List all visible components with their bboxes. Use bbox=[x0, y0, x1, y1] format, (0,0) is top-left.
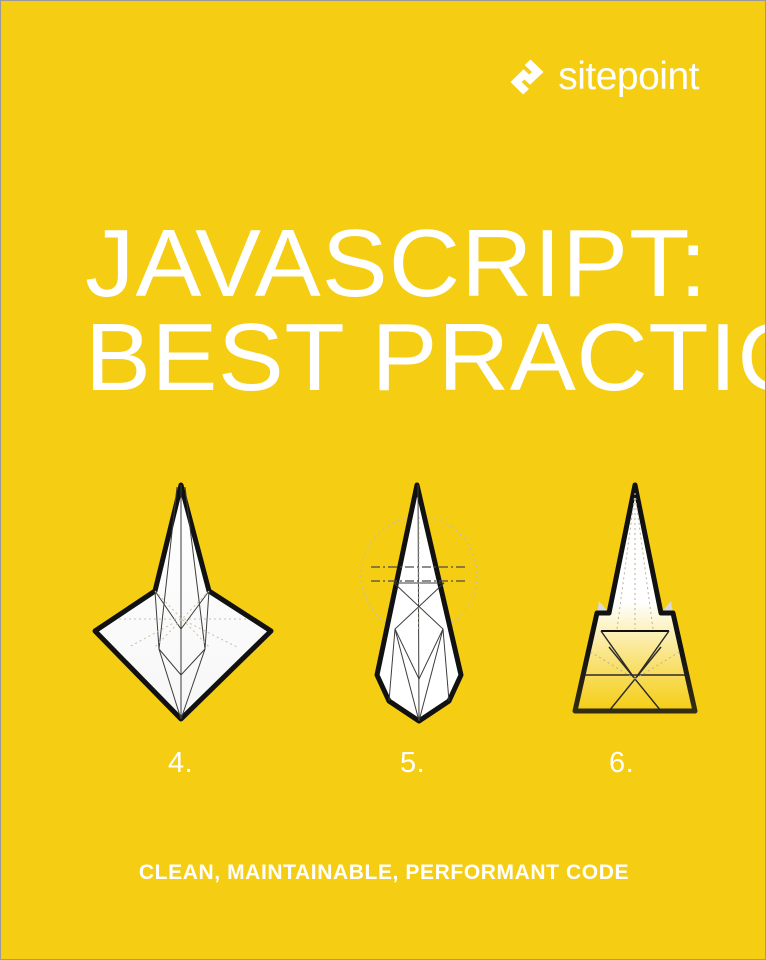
book-cover: sitepoint JAVASCRIPT: BEST PRACTICE bbox=[0, 0, 766, 960]
cover-title: JAVASCRIPT: BEST PRACTICE bbox=[85, 217, 747, 405]
title-line-1: JAVASCRIPT: bbox=[85, 217, 766, 311]
origami-step-5-icon bbox=[339, 479, 499, 729]
figure-caption-5: 5. bbox=[400, 749, 425, 778]
brand-logo: sitepoint bbox=[510, 57, 699, 96]
cover-tagline: CLEAN, MAINTAINABLE, PERFORMANT CODE bbox=[1, 862, 766, 883]
figure-caption-6: 6. bbox=[609, 749, 634, 778]
brand-wordmark: sitepoint bbox=[558, 57, 699, 96]
sitepoint-s-chevron-logo-icon bbox=[510, 59, 544, 95]
figure-captions: 4. 5. 6. bbox=[1, 749, 766, 789]
figure-caption-4: 4. bbox=[168, 749, 193, 778]
origami-figure-row bbox=[1, 479, 766, 729]
origami-step-4-icon bbox=[89, 479, 277, 729]
title-line-2: BEST PRACTICE bbox=[85, 311, 766, 405]
origami-step-6-icon bbox=[549, 479, 721, 729]
